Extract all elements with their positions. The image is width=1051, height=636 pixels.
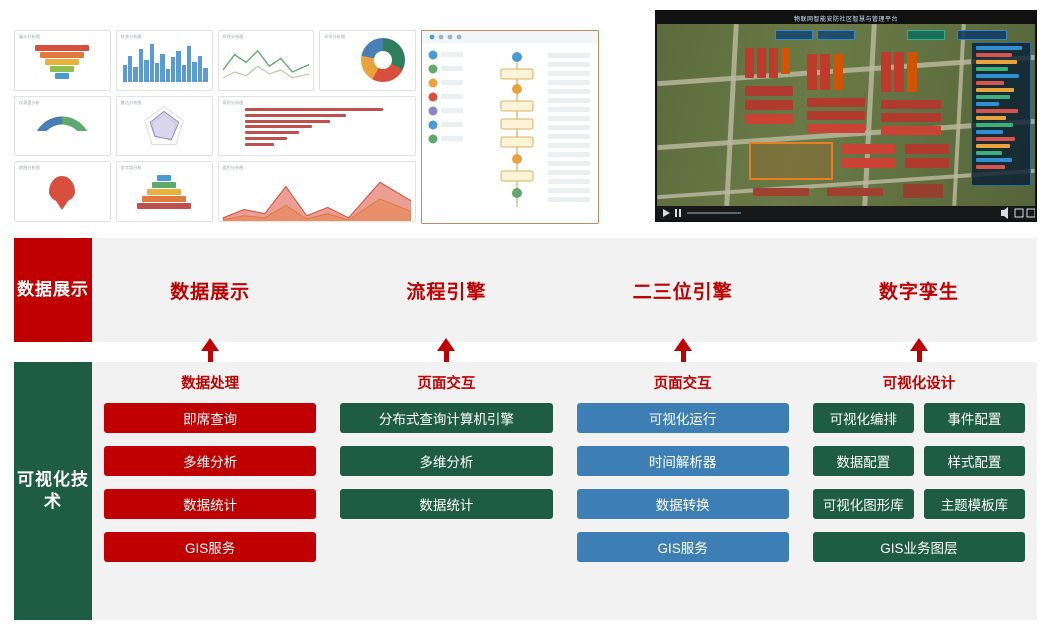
chip-data-transform[interactable]: 数据转换 [577,489,789,519]
chip-multidim-analysis[interactable]: 多维分析 [104,446,316,476]
map-pin-icon [49,176,75,202]
card-title: 地图分析图 [19,165,40,171]
tech-column-data-processing: 数据处理 即席查询 多维分析 数据统计 GIS服务 [92,362,328,620]
chart-card-pyramid: 金字塔分析 [116,161,213,222]
radar-chart-icon [141,104,187,150]
chip-data-statistics[interactable]: 数据统计 [340,489,552,519]
digital-twin-title: 物联网智能安防社区智慧与管理平台 [657,14,1035,23]
tech-column-page-interaction-2: 页面交互 可视化运行 时间解析器 数据转换 GIS服务 [565,362,801,620]
tech-columns: 数据处理 即席查询 多维分析 数据统计 GIS服务 页面交互 分布式查询计算机引… [92,362,1037,620]
display-column-23d-engine: 二三位引擎 [565,238,801,342]
chip-gis-service[interactable]: GIS服务 [577,532,789,562]
flow-engine-designer-panel [421,30,599,224]
tech-column-heading: 页面交互 [340,372,552,393]
chart-card-hbar: 条形分析图 [218,96,417,157]
row-label-data-display: 数据展示 [14,238,92,342]
flow-diagram [422,31,598,223]
chip-distributed-query-engine[interactable]: 分布式查询计算机引擎 [340,403,552,433]
chip-ad-hoc-query[interactable]: 即席查询 [104,403,316,433]
display-column-title: 流程引擎 [406,277,486,304]
card-title: 漏斗分析图 [19,34,40,40]
tech-column-heading: 数据处理 [104,372,316,393]
city-map [657,24,1035,206]
chart-card-line: 折线分析图 [218,30,315,91]
chip-data-statistics[interactable]: 数据统计 [104,489,316,519]
bar-chart-icon [123,40,208,82]
chip-pair-0: 可视化编排 事件配置 [813,403,1025,446]
row-label-visualization-tech: 可视化技术 [14,362,92,620]
city-chip-2[interactable] [907,30,945,40]
chip-event-config[interactable]: 事件配置 [924,403,1025,433]
gauge-chart-icon [33,116,91,145]
city-chip-0[interactable] [775,30,813,40]
chip-theme-template-library[interactable]: 主题模板库 [924,489,1025,519]
chip-style-config[interactable]: 样式配置 [924,446,1025,476]
chip-pair-2: 可视化图形库 主题模板库 [813,489,1025,532]
display-column-title: 二三位引擎 [633,277,733,304]
chart-card-donut: 环形分析图 [319,30,416,91]
city-player-bar[interactable] [657,206,1035,220]
digital-twin-screenshot: 物联网智能安防社区智慧与管理平台 [655,10,1037,222]
pyramid-chart-icon [137,174,191,210]
horizontal-bar-chart-icon [245,107,410,148]
donut-chart-icon [361,38,405,82]
top-screenshots-area: 漏斗分析图 柱状分析图 折线分析图 [0,0,1051,230]
chip-visual-orchestration[interactable]: 可视化编排 [813,403,914,433]
card-title: 金字塔分析 [121,165,142,171]
chart-card-radar: 雷达分析图 [116,96,213,157]
chip-gis-service[interactable]: GIS服务 [104,532,316,562]
city-chip-1[interactable] [817,30,855,40]
card-title: 折线分析图 [223,34,244,40]
chip-gis-business-layer[interactable]: GIS业务图层 [813,532,1025,562]
card-title: 环形分析图 [324,34,345,40]
chart-card-map: 地图分析图 [14,161,111,222]
display-column-title: 数据展示 [170,277,250,304]
chip-visual-runtime[interactable]: 可视化运行 [577,403,789,433]
display-column-data-display: 数据展示 [92,238,328,342]
card-title: 面积分析图 [223,165,244,171]
tech-column-visual-design: 可视化设计 可视化编排 事件配置 数据配置 样式配置 可视化图形库 主题模板库 … [801,362,1037,620]
card-title: 条形分析图 [223,100,244,106]
chip-data-config[interactable]: 数据配置 [813,446,914,476]
tech-column-heading: 页面交互 [577,372,789,393]
chart-card-bar: 柱状分析图 [116,30,213,91]
chart-card-funnel: 漏斗分析图 [14,30,111,91]
tech-column-heading: 可视化设计 [813,372,1025,393]
player-controls[interactable] [657,206,1037,220]
display-columns: 数据展示 流程引擎 二三位引擎 数字孪生 [92,238,1037,342]
tech-column-page-interaction-1: 页面交互 分布式查询计算机引擎 多维分析 数据统计 [328,362,564,620]
chip-time-parser[interactable]: 时间解析器 [577,446,789,476]
city-status-panel [971,42,1031,186]
card-title: 仪表盘分析 [19,100,40,106]
chip-pair-1: 数据配置 样式配置 [813,446,1025,489]
city-chip-3[interactable] [957,30,1007,40]
card-title: 雷达分析图 [121,100,142,106]
display-column-title: 数字孪生 [879,277,959,304]
chip-visual-shape-library[interactable]: 可视化图形库 [813,489,914,519]
funnel-chart-icon [35,44,89,80]
area-chart-icon [223,176,411,222]
chart-card-gauge: 仪表盘分析 [14,96,111,157]
chart-card-area: 面积分析图 [218,161,417,222]
chip-multidim-analysis[interactable]: 多维分析 [340,446,552,476]
display-column-digital-twin: 数字孪生 [801,238,1037,342]
dashboard-chart-grid: 漏斗分析图 柱状分析图 折线分析图 [14,30,416,222]
line-chart-icon [223,45,310,84]
display-column-flow-engine: 流程引擎 [328,238,564,342]
